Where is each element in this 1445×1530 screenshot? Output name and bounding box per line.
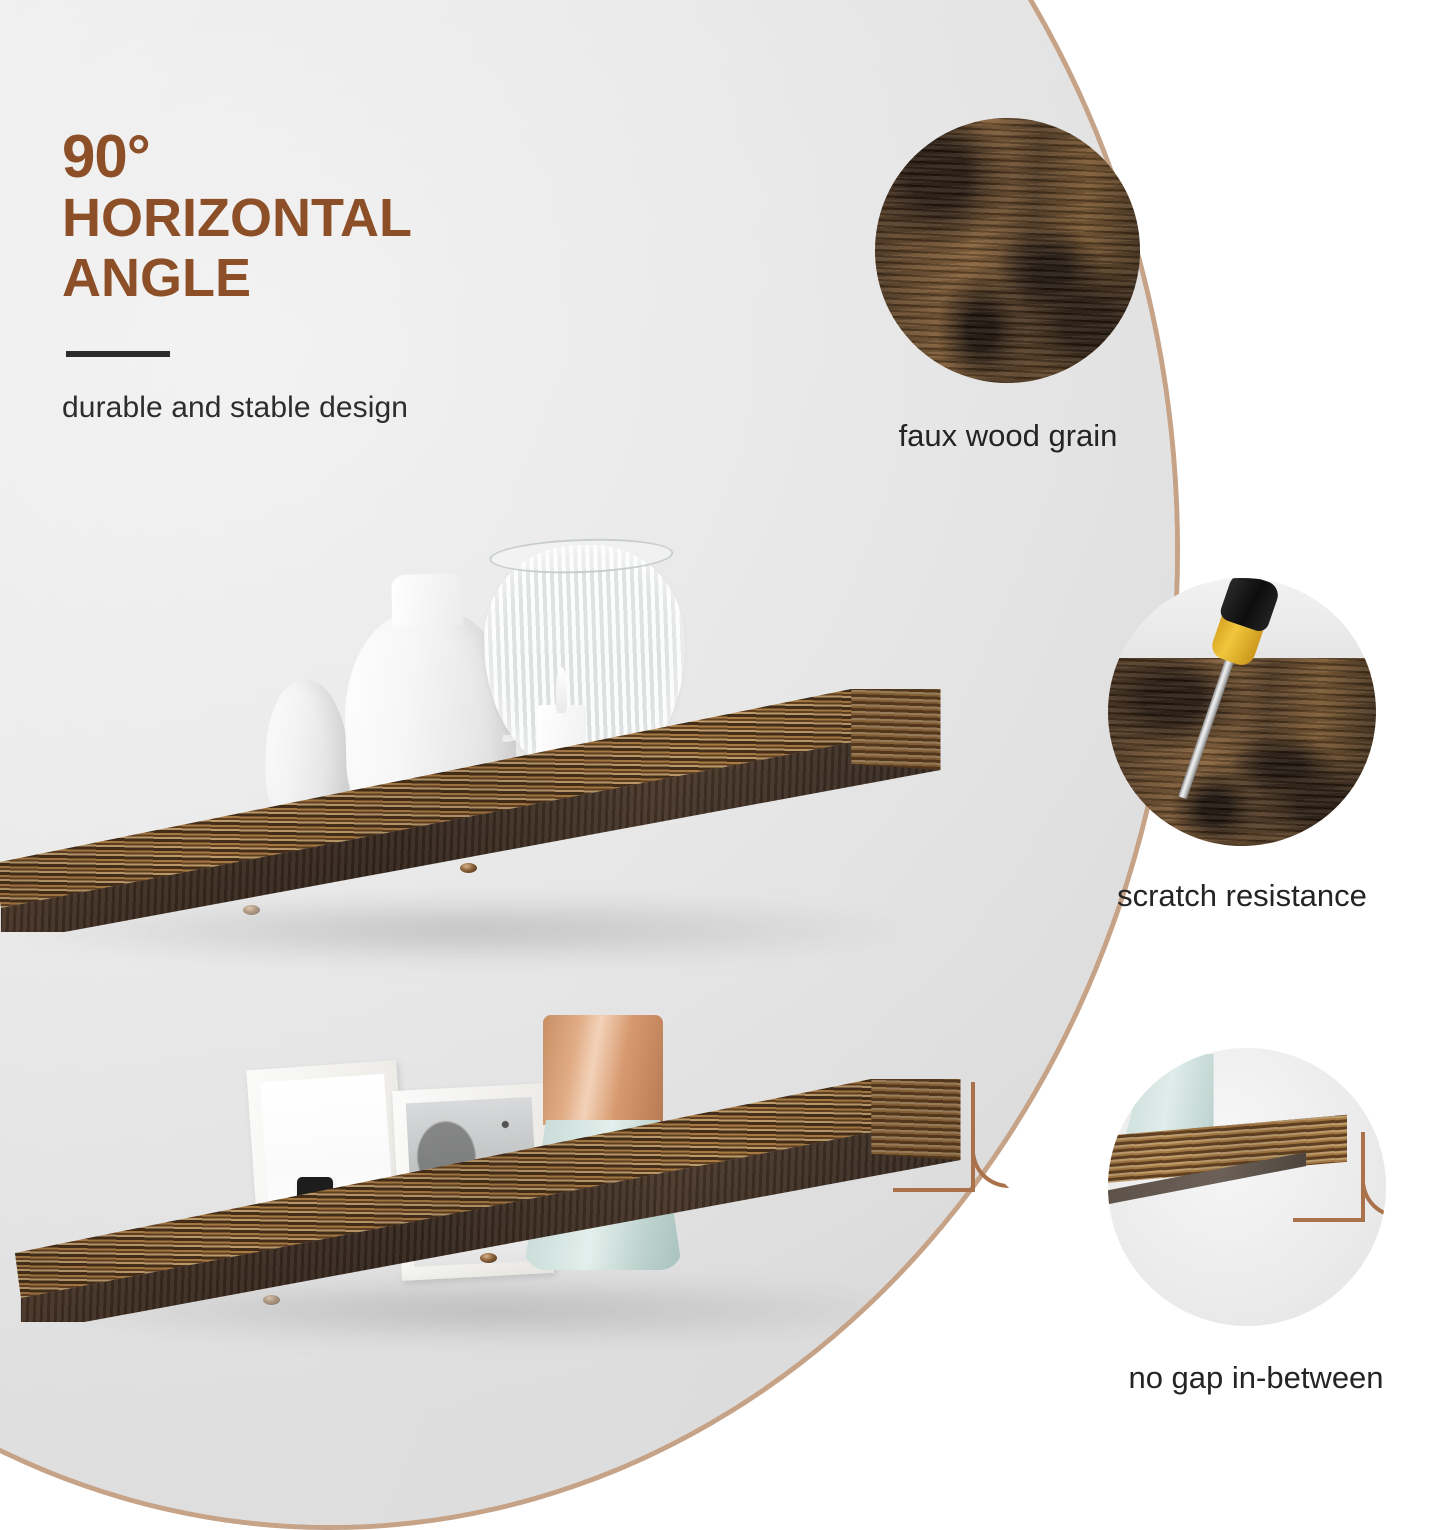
scratch-resistance-inset: [1108, 578, 1376, 846]
headline-divider: [66, 351, 170, 357]
headline-degree: 90°: [62, 126, 682, 188]
floating-shelf-bottom: [15, 1025, 1005, 1325]
jug-neck: [391, 573, 464, 627]
angle-marker-vertical: [1361, 1132, 1365, 1222]
angle-marker-vertical: [971, 1082, 975, 1192]
bottom-shelf-screw: [480, 1253, 497, 1263]
faux-wood-grain-swatch: [875, 118, 1140, 383]
product-feature-image: 90° HORIZONTAL ANGLE durable and stable …: [0, 0, 1445, 1500]
top-shelf-screw: [460, 863, 477, 873]
feature-label: faux wood grain: [899, 418, 1118, 454]
angle-marker-inset: [1293, 1132, 1365, 1222]
feature-faux-wood-grain: faux wood grain: [875, 118, 1165, 478]
bottom-shelf-screw: [263, 1295, 280, 1305]
feature-no-gap-in-between: no gap in-between: [1108, 1048, 1428, 1418]
no-gap-inset: [1108, 1048, 1386, 1326]
angle-marker-horizontal: [1293, 1218, 1365, 1222]
headline-line-1: HORIZONTAL: [62, 188, 682, 248]
headline-block: 90° HORIZONTAL ANGLE durable and stable …: [62, 126, 682, 425]
wood-grain-texture: [875, 118, 1140, 383]
headline-subtitle: durable and stable design: [62, 391, 682, 425]
headline-line-2: ANGLE: [62, 248, 682, 308]
top-shelf-screw: [243, 905, 260, 915]
feature-label: scratch resistance: [1117, 878, 1367, 914]
feature-label: no gap in-between: [1128, 1360, 1383, 1396]
feature-scratch-resistance: scratch resistance: [1108, 578, 1408, 928]
angle-marker-horizontal: [893, 1188, 975, 1192]
angle-marker-main: [893, 1082, 975, 1192]
floating-shelf-top: [0, 635, 985, 935]
